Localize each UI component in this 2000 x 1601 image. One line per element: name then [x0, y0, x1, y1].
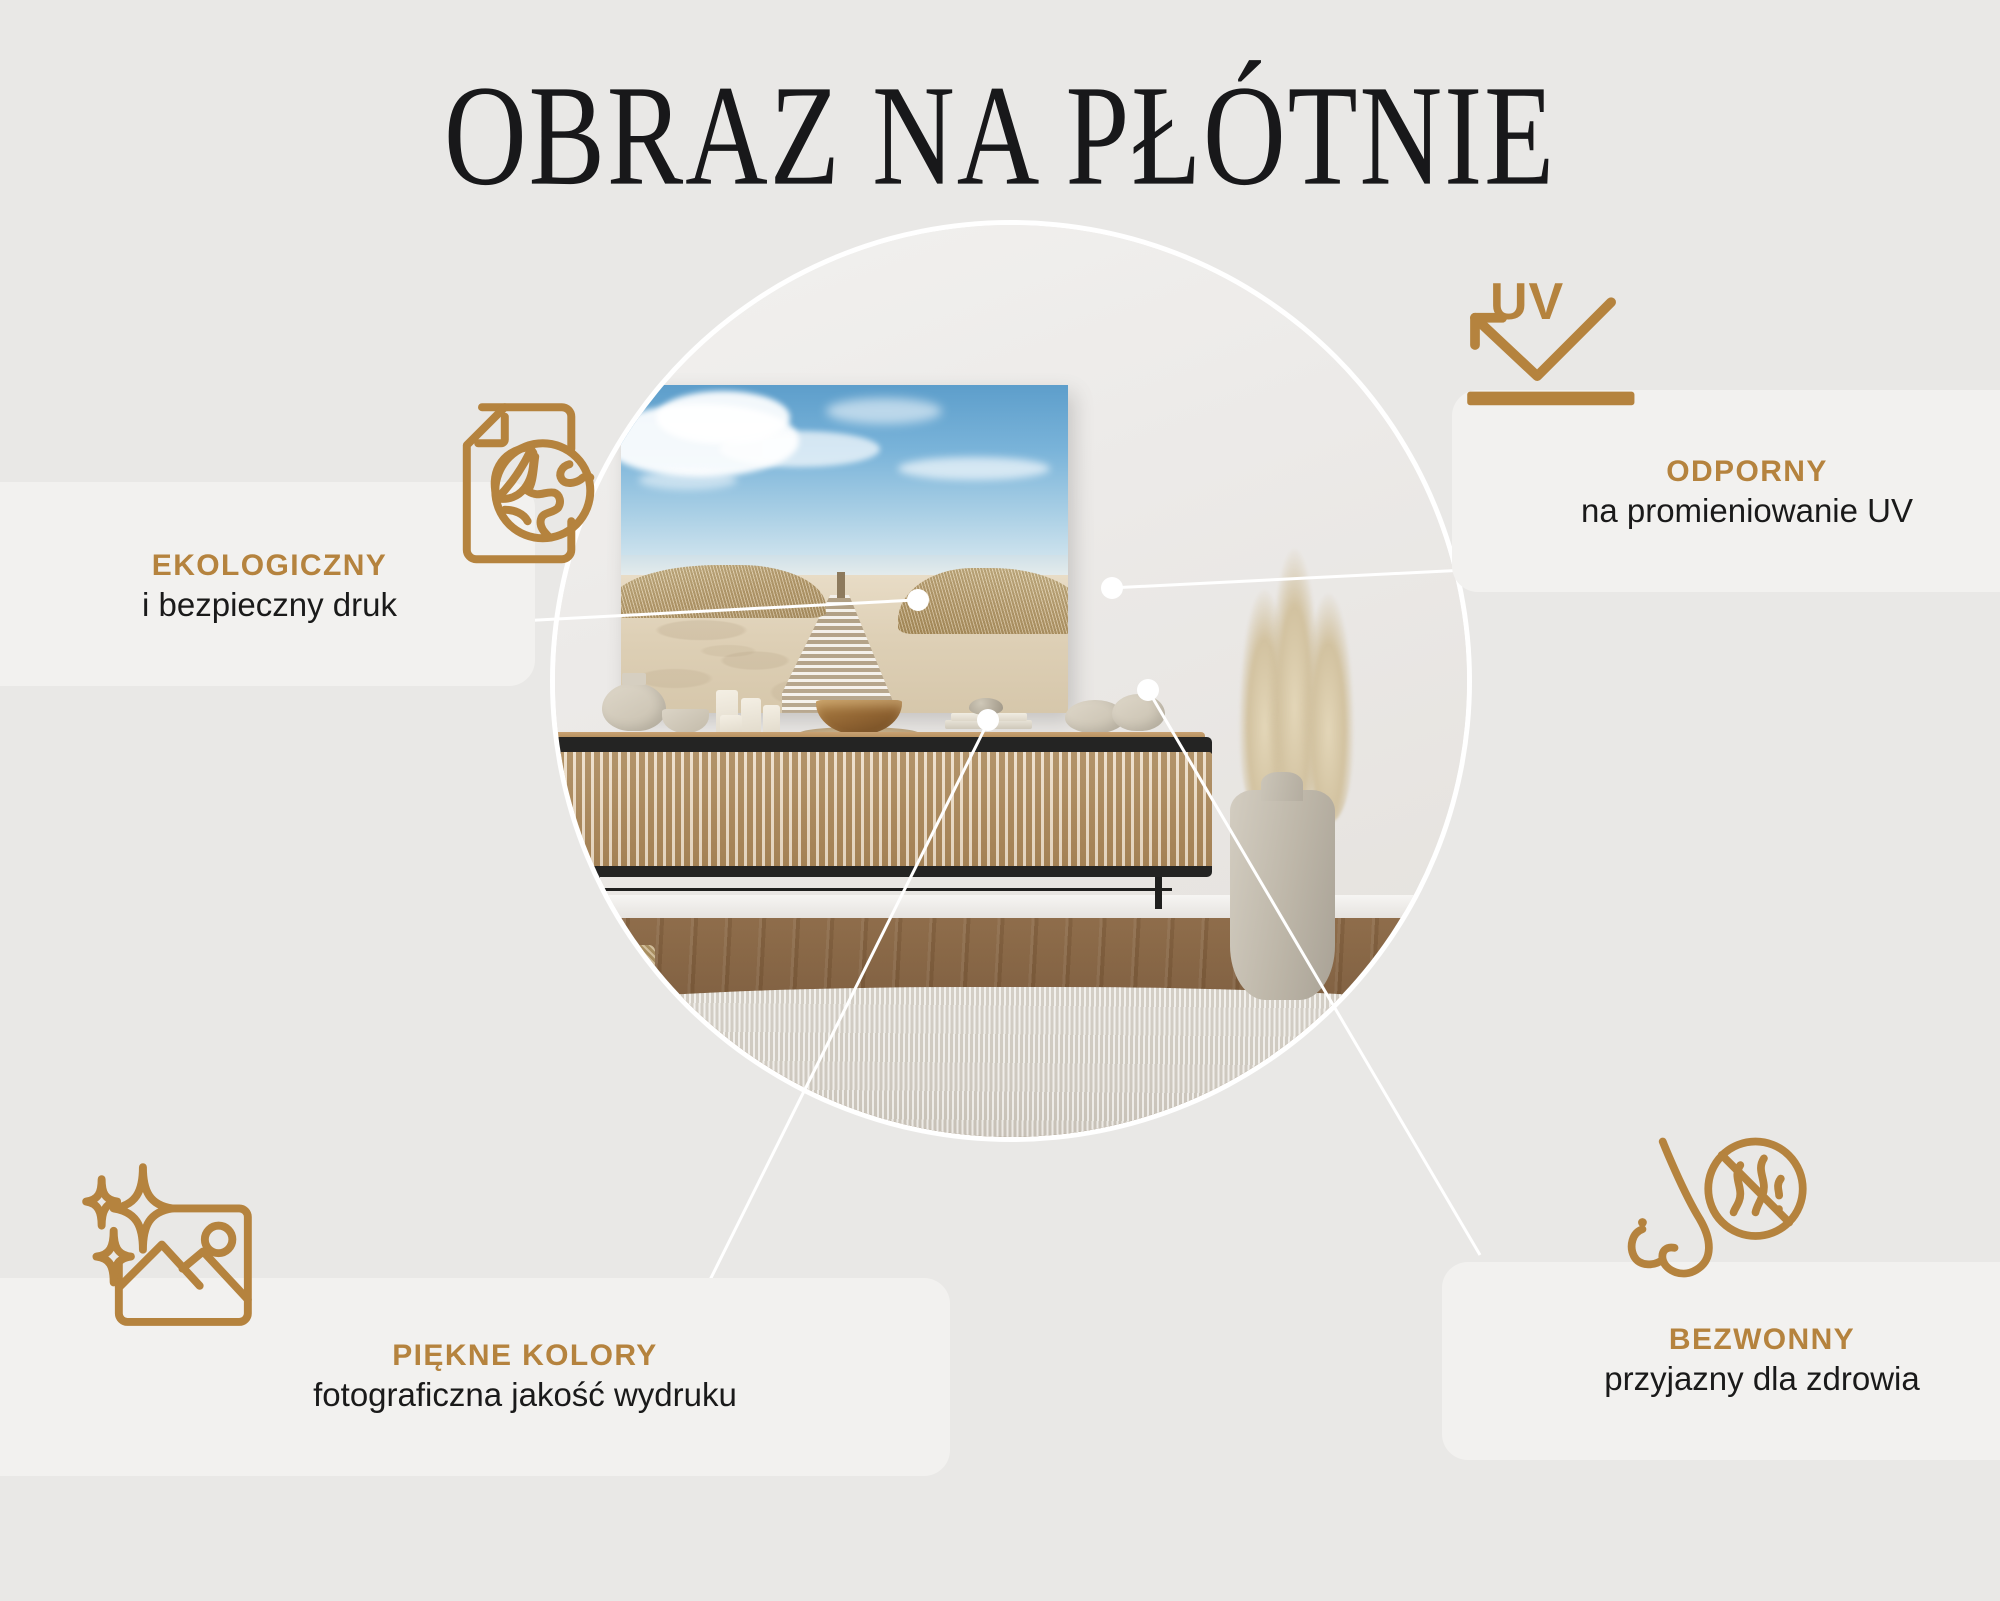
feature-title-colors: PIĘKNE KOLORY: [392, 1337, 657, 1375]
small-bowl: [662, 709, 709, 733]
cabinet-fluted-front: [555, 752, 1212, 868]
cabinet-leg-rail: [586, 888, 1172, 890]
book-stack: [945, 720, 1032, 728]
feature-subtitle-uv: na promieniowanie UV: [1581, 490, 1913, 533]
cloud: [719, 431, 880, 467]
feature-title-odor: BEZWONNY: [1669, 1321, 1855, 1359]
page-title: OBRAZ NA PŁÓTNIE: [30, 58, 1970, 213]
candle: [763, 705, 780, 733]
woven-basket: [573, 945, 655, 1018]
feature-title-eco: EKOLOGICZNY: [152, 547, 387, 585]
feature-card-odor[interactable]: BEZWONNY przyjazny dla zdrowia: [1442, 1262, 2000, 1460]
sideboard-cabinet: [555, 722, 1212, 909]
feature-subtitle-eco: i bezpieczny druk: [142, 584, 397, 627]
infographic-root: OBRAZ NA PŁÓTNIE: [0, 0, 2000, 1601]
candle: [741, 698, 761, 734]
cloud: [639, 470, 737, 490]
cloud: [898, 457, 1050, 480]
interior-scene: [555, 225, 1467, 1137]
cloud: [826, 398, 942, 424]
artwork-post: [837, 572, 844, 598]
vase-neck: [622, 673, 646, 684]
feature-subtitle-colors: fotograficzna jakość wydruku: [313, 1374, 737, 1417]
feature-subtitle-odor: przyjazny dla zdrowia: [1604, 1358, 1919, 1401]
cabinet-base-trim: [555, 866, 1212, 877]
feature-title-uv: ODPORNY: [1666, 453, 1828, 491]
round-vase: [602, 683, 665, 732]
candle: [720, 715, 741, 734]
product-scene-photo: [555, 225, 1467, 1137]
canvas-artwork: [621, 385, 1068, 713]
sparkle-photo-icon: [72, 1162, 262, 1334]
uv-reflection-icon: [1455, 275, 1670, 415]
nose-no-smell-icon: [1622, 1128, 1808, 1290]
cabinet-leg: [1155, 877, 1162, 909]
decor-stone: [969, 698, 1004, 715]
area-rug: [555, 987, 1467, 1137]
document-globe-leaf-icon: [425, 392, 615, 582]
floor-vase: [1230, 790, 1335, 1000]
cabinet-leg: [592, 877, 599, 909]
round-vase: [1112, 694, 1165, 731]
feature-card-uv[interactable]: ODPORNY na promieniowanie UV: [1452, 390, 2000, 592]
